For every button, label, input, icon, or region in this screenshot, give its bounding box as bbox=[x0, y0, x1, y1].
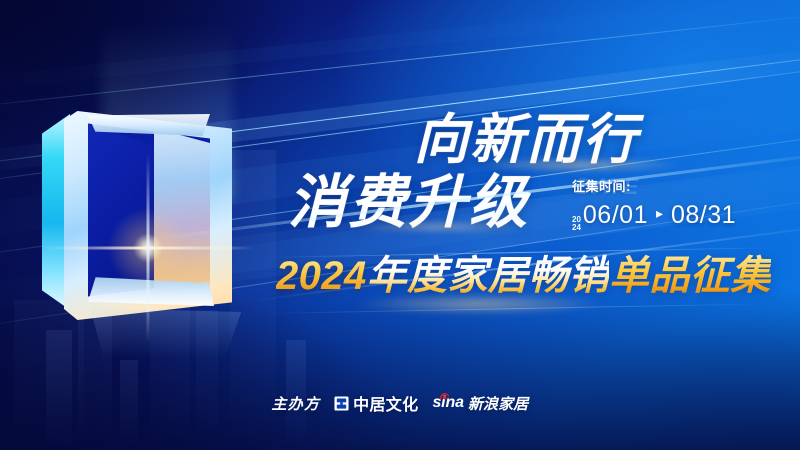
warm-glow bbox=[300, 286, 660, 322]
sina-logo: sina bbox=[432, 395, 463, 411]
warm-glow-line2 bbox=[300, 216, 580, 238]
warm-glow-headline bbox=[430, 152, 730, 178]
zhongju-logo-icon bbox=[334, 396, 349, 411]
sponsor-row: 主办方 中居文化 sina bbox=[0, 391, 800, 415]
promo-banner: 向新而行 消费升级 DATE 征集时间: 20 24 06/01 ▸ 08/31… bbox=[0, 0, 800, 450]
sponsor-zhongju: 中居文化 bbox=[334, 391, 418, 415]
sponsor-sina: sina 新浪家居 bbox=[432, 393, 528, 414]
sina-name: 新浪家居 bbox=[468, 393, 529, 414]
sponsor-label: 主办方 bbox=[272, 393, 321, 414]
sina-eye-icon bbox=[439, 388, 450, 397]
zhongju-name: 中居文化 bbox=[353, 391, 418, 415]
